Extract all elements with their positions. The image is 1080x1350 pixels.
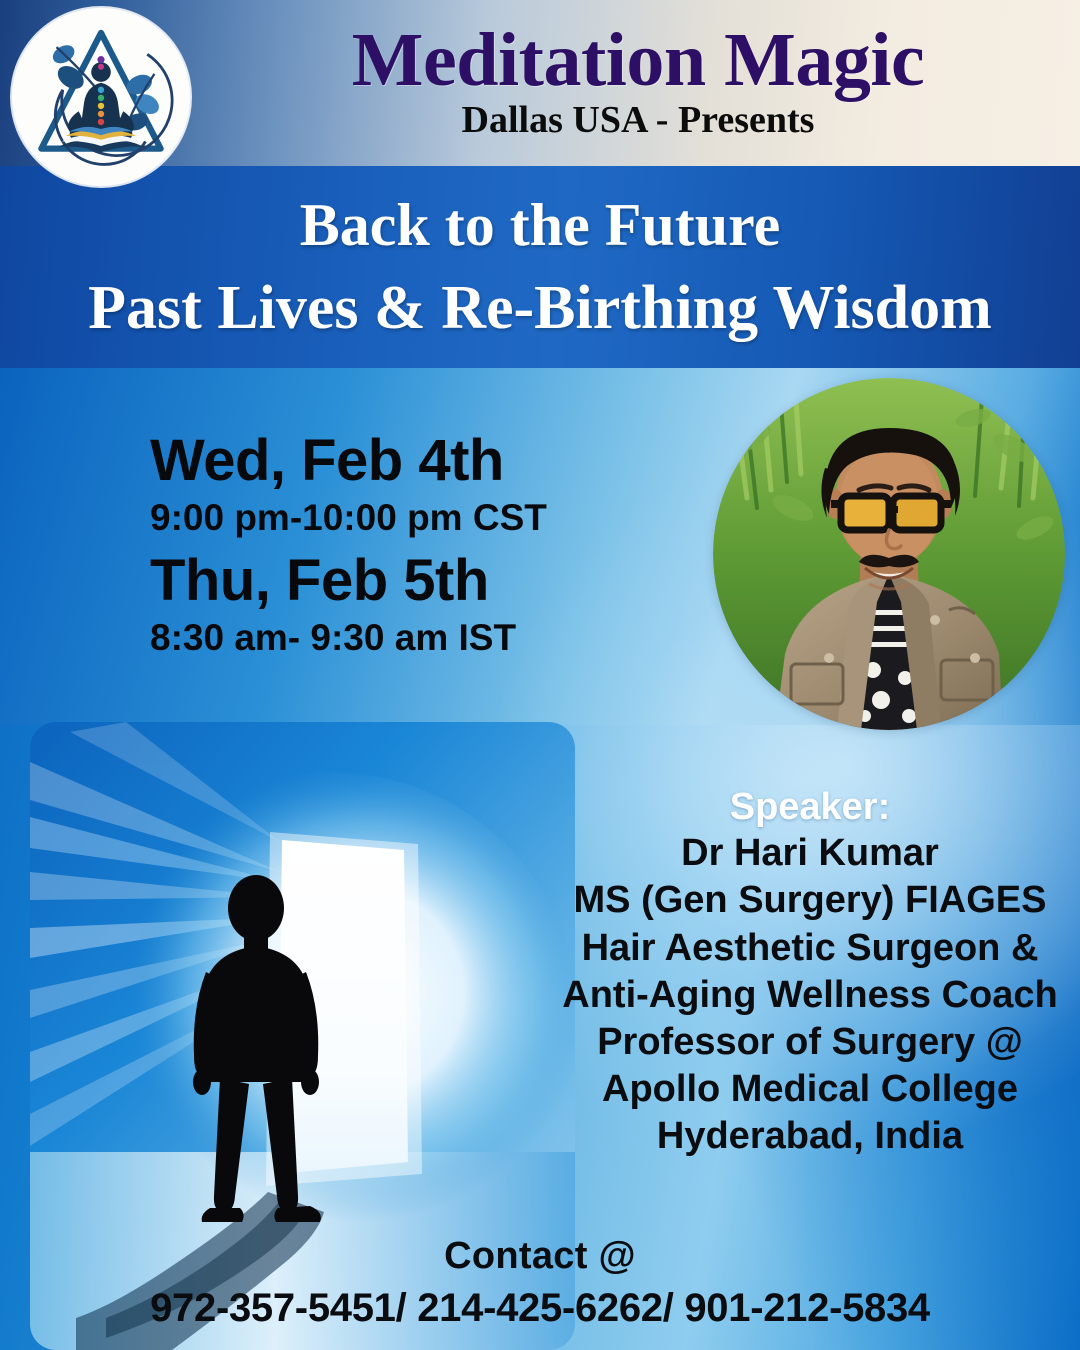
speaker-heading: Speaker: (545, 784, 1075, 830)
header-text-group: Meditation Magic Dallas USA - Presents (196, 0, 1080, 166)
speaker-affiliation: Apollo Medical College (545, 1066, 1075, 1113)
brand-subtitle: Dallas USA - Presents (462, 101, 815, 141)
speaker-portrait-photo-icon (713, 378, 1065, 730)
schedule-time-1: 9:00 pm-10:00 pm CST (150, 497, 630, 538)
schedule-day-1: Wed, Feb 4th (150, 430, 630, 493)
speaker-role-line-1: Hair Aesthetic Surgeon & (545, 925, 1075, 972)
speaker-role-line-3: Professor of Surgery @ (545, 1019, 1075, 1066)
event-title-banner: Back to the Future Past Lives & Re-Birth… (0, 166, 1080, 368)
event-poster: Meditation Magic Dallas USA - Presents (0, 0, 1080, 1350)
contact-label: Contact @ (0, 1234, 1080, 1280)
event-title-line-1: Back to the Future (300, 195, 781, 255)
speaker-name: Dr Hari Kumar (545, 830, 1075, 877)
schedule-time-2: 8:30 am- 9:30 am IST (150, 617, 630, 658)
speaker-location: Hyderabad, India (545, 1113, 1075, 1160)
speaker-bio: Speaker: Dr Hari Kumar MS (Gen Surgery) … (545, 784, 1075, 1160)
event-title-line-2: Past Lives & Re-Birthing Wisdom (88, 277, 992, 339)
speaker-credentials: MS (Gen Surgery) FIAGES (545, 877, 1075, 924)
meditation-lotus-triangle-logo-icon (12, 8, 190, 186)
contact-phone-numbers[interactable]: 972-357-5451/ 214-425-6262/ 901-212-5834 (0, 1284, 1080, 1332)
brand-title: Meditation Magic (352, 23, 924, 97)
event-schedule: Wed, Feb 4th 9:00 pm-10:00 pm CST Thu, F… (150, 430, 630, 670)
schedule-day-2: Thu, Feb 5th (150, 550, 630, 613)
contact-block: Contact @ 972-357-5451/ 214-425-6262/ 90… (0, 1234, 1080, 1332)
speaker-role-line-2: Anti-Aging Wellness Coach (545, 972, 1075, 1019)
